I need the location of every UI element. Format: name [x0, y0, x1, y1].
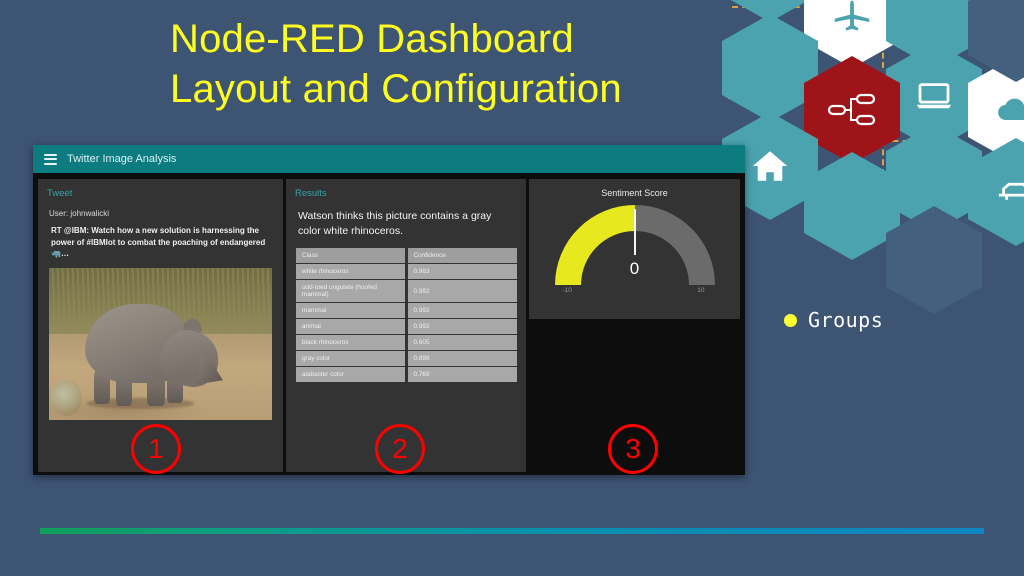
tweet-text: RT @IBM: Watch how a new solution is har…: [38, 218, 283, 260]
cell-confidence: 0.992: [406, 280, 517, 303]
table-row: alabaster color0.769: [296, 367, 517, 383]
blank-hex: [804, 152, 900, 260]
node-red-flow-icon-hex: [804, 56, 900, 164]
groups-legend-dot-icon: [784, 314, 797, 327]
cell-confidence: 0.769: [406, 367, 517, 383]
groups-legend: Groups: [784, 308, 883, 332]
bottom-accent-bar: [40, 528, 984, 534]
hamburger-menu-icon[interactable]: [44, 154, 57, 165]
results-summary: Watson thinks this picture contains a gr…: [286, 199, 526, 239]
sentiment-gauge: 0: [555, 205, 715, 291]
annotation-marker-1: 1: [131, 424, 181, 474]
table-row: white rhinoceros0.963: [296, 264, 517, 280]
sentiment-title: Sentiment Score: [529, 179, 740, 198]
table-row: mammal0.992: [296, 303, 517, 319]
cell-class: black rhinoceros: [296, 335, 406, 351]
cell-confidence: 0.963: [406, 264, 517, 280]
cell-confidence: 0.992: [406, 303, 517, 319]
annotation-marker-2: 2: [375, 424, 425, 474]
cell-class: alabaster color: [296, 367, 406, 383]
cell-class: mammal: [296, 303, 406, 319]
blank-hex: [886, 206, 982, 314]
results-card-title: Results: [286, 179, 526, 199]
cell-class: animal: [296, 319, 406, 335]
car-icon: [995, 178, 1024, 206]
gauge-ticks: -10 10: [555, 287, 715, 299]
tweet-image: [49, 268, 272, 420]
cell-confidence: 0.605: [406, 335, 517, 351]
column-header-confidence: Confidence: [406, 248, 517, 264]
page-title: Node-RED Dashboard Layout and Configurat…: [170, 14, 730, 114]
title-line-1: Node-RED Dashboard: [170, 14, 730, 64]
table-row: gray color0.898: [296, 351, 517, 367]
tweet-card-title: Tweet: [38, 179, 283, 199]
house-icon: [750, 148, 790, 184]
dashboard-header: Twitter Image Analysis: [33, 145, 745, 173]
annotation-marker-3: 3: [608, 424, 658, 474]
gauge-value: 0: [555, 259, 715, 279]
cloud-icon: [995, 95, 1024, 125]
tweet-user: User: johnwalicki: [38, 199, 283, 218]
node-red-flow-icon: [827, 93, 877, 127]
groups-legend-label: Groups: [808, 308, 883, 332]
column-header-class: Class: [296, 248, 406, 264]
confidence-table: Class Confidence white rhinoceros0.963od…: [296, 248, 517, 383]
cell-confidence: 0.898: [406, 351, 517, 367]
airplane-icon: [829, 0, 875, 37]
cell-class: white rhinoceros: [296, 264, 406, 280]
cell-class: odd-toed ungulate (hoofed mammal): [296, 280, 406, 303]
gauge-min-label: -10: [563, 287, 572, 294]
table-header-row: Class Confidence: [296, 248, 517, 264]
sentiment-card: Sentiment Score 0 -10 10: [529, 179, 740, 319]
table-row: black rhinoceros0.605: [296, 335, 517, 351]
gauge-max-label: 10: [697, 287, 704, 294]
dashboard-title: Twitter Image Analysis: [67, 153, 176, 165]
table-row: odd-toed ungulate (hoofed mammal)0.992: [296, 280, 517, 303]
cell-confidence: 0.992: [406, 319, 517, 335]
cell-class: gray color: [296, 351, 406, 367]
title-line-2: Layout and Configuration: [170, 64, 730, 114]
gauge-needle: [634, 209, 637, 255]
table-row: animal0.992: [296, 319, 517, 335]
laptop-icon: [913, 75, 955, 117]
hexagon-decoration: [714, 0, 1024, 290]
slide-canvas: Node-RED Dashboard Layout and Configurat…: [0, 0, 1024, 576]
blank-hex: [722, 14, 818, 122]
